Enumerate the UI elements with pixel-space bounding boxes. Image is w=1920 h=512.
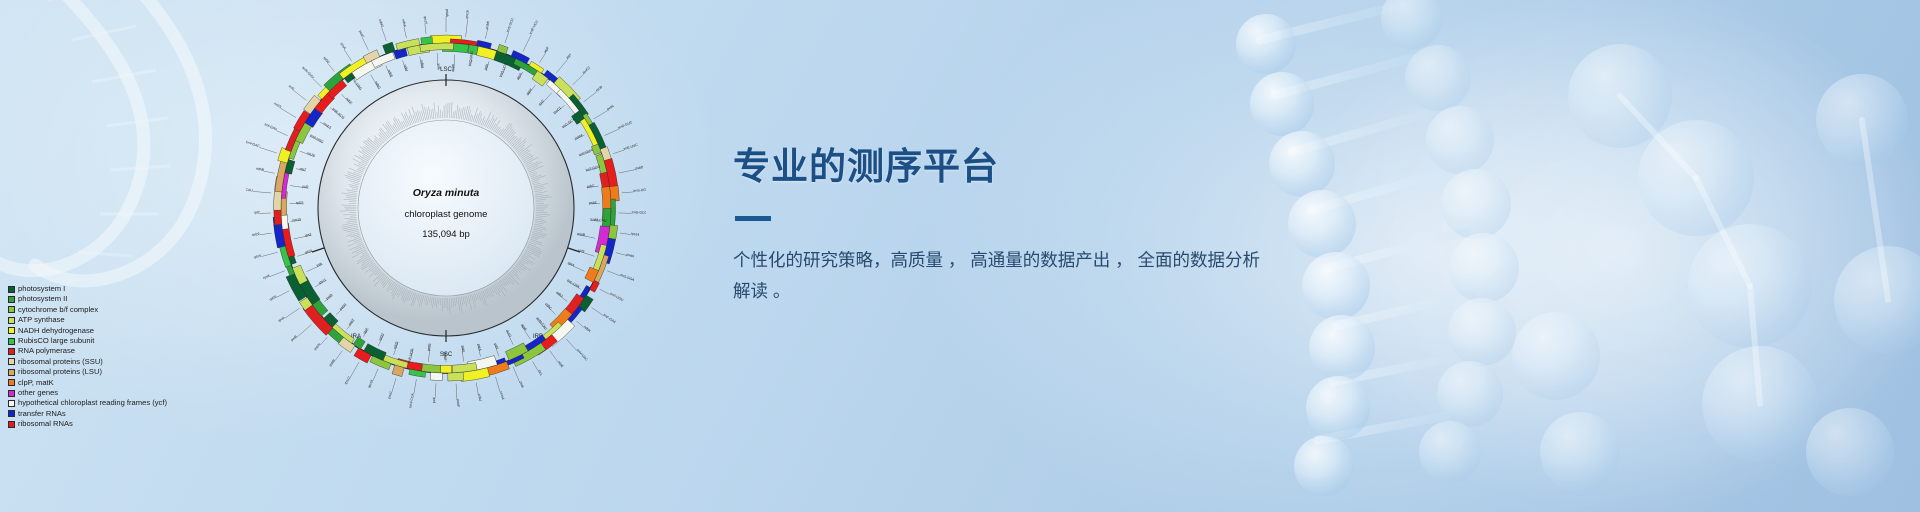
gene-leader-line xyxy=(328,64,334,72)
legend-item-label: cytochrome b/f complex xyxy=(18,305,98,315)
legend-color-swatch xyxy=(8,358,15,365)
gene-feature-box xyxy=(448,372,464,381)
gene-label: rrn16 xyxy=(307,151,316,158)
gene-leader-line xyxy=(539,53,545,63)
gene-leader-line xyxy=(259,147,277,153)
gene-label: psbL xyxy=(461,345,466,353)
gene-label: trnA-UGC xyxy=(309,133,325,144)
legend-item-label: NADH dehydrogenase xyxy=(18,326,94,336)
gene-label: trnL-UAG xyxy=(351,77,363,91)
legend-item-label: ribosomal proteins (LSU) xyxy=(18,367,102,377)
gene-label: petD xyxy=(325,293,334,301)
gene-label: ndhF xyxy=(345,97,353,105)
gene-label: trnL-UAA xyxy=(566,278,581,289)
gene-label: petN xyxy=(606,104,615,111)
gene-leader-line xyxy=(523,34,531,51)
gene-label: rrn23 xyxy=(273,101,282,109)
gene-leader-line xyxy=(556,59,568,73)
legend-item: ribosomal proteins (SSU) xyxy=(8,357,238,367)
gene-label: psbJ xyxy=(477,394,482,402)
gene-leader-line xyxy=(505,33,509,43)
gene-leader-line xyxy=(253,191,272,193)
legend-color-swatch xyxy=(8,348,15,355)
gene-label: atpA xyxy=(516,72,523,81)
gene-label: rpl20 xyxy=(378,333,385,342)
gene-label: psbF xyxy=(456,399,460,407)
gene-label: ccsA xyxy=(339,42,347,51)
legend-item: clpP, matK xyxy=(8,378,238,388)
gene-label: ycf4 xyxy=(493,343,499,350)
gene-label: trnS-UGA xyxy=(633,188,646,193)
gene-leader-line xyxy=(264,171,275,173)
gene-label: psbT xyxy=(348,318,356,326)
gene-leader-line xyxy=(456,384,457,400)
gene-label: ndhH xyxy=(419,60,424,69)
gene-label: ndhK xyxy=(583,325,592,334)
gene-leader-line xyxy=(321,337,328,344)
gene-label: psaC xyxy=(358,30,365,39)
legend-color-swatch xyxy=(8,400,15,407)
gene-label: psaA xyxy=(626,252,635,258)
gene-label: trnT-UGU xyxy=(609,292,624,303)
gene-leader-line xyxy=(592,308,603,316)
gene-label: clpP xyxy=(362,326,369,334)
gene-leader-line xyxy=(577,321,584,327)
gene-leader-line xyxy=(485,29,487,39)
gene-label: rps16 xyxy=(465,10,470,19)
gene-feature-box xyxy=(430,372,442,380)
gene-label: psbI xyxy=(484,63,490,70)
gene-leader-line xyxy=(476,383,478,395)
gene-label: psbD xyxy=(635,165,644,171)
gene-label: atpH xyxy=(525,87,533,96)
gene-label: matK xyxy=(451,63,455,72)
gene-leader-line xyxy=(594,110,608,119)
legend-item: hypothetical chloroplast reading frames … xyxy=(8,398,238,408)
gene-leader-line xyxy=(404,27,407,38)
gene-label: rpoB xyxy=(595,84,604,92)
legend-color-swatch xyxy=(8,317,15,324)
gene-label: accD xyxy=(505,329,512,338)
gene-leader-line xyxy=(373,369,378,381)
gene-label: trnI-GAU xyxy=(264,122,278,131)
gene-category-legend: photosystem Iphotosystem IIcytochrome b/… xyxy=(8,284,238,429)
gene-feature-box xyxy=(440,365,452,373)
gene-label: ndhB xyxy=(256,167,265,173)
gene-leader-line xyxy=(270,271,285,277)
gene-leader-line xyxy=(293,90,306,100)
gene-leader-line xyxy=(566,339,576,350)
gene-label: rps18 xyxy=(367,379,374,388)
gene-label: psbE xyxy=(443,351,447,359)
gene-label: rps14 xyxy=(631,232,640,237)
legend-color-swatch xyxy=(8,410,15,417)
gene-label: trnW-CCA xyxy=(408,392,415,408)
gene-label: psaI xyxy=(519,381,525,389)
legend-color-swatch xyxy=(8,390,15,397)
gene-label: psbM xyxy=(574,133,583,140)
gene-label: rpl14 xyxy=(304,249,313,255)
sequencing-platform-banner: LSC IRA SSC IRB psbAmatKrps16trnQ-UUGpsb… xyxy=(0,0,1920,512)
legend-color-swatch xyxy=(8,421,15,428)
gene-leader-line xyxy=(619,170,636,173)
gene-label: rps19 xyxy=(292,217,301,222)
legend-item-label: ribosomal proteins (SSU) xyxy=(18,357,103,367)
gene-leader-line xyxy=(466,19,468,37)
gene-label: rrn4.5 xyxy=(322,121,332,129)
legend-item-label: photosystem I xyxy=(18,284,65,294)
gene-label: petL xyxy=(432,396,436,403)
gene-label: rpl16 xyxy=(253,254,261,260)
gene-label: trnG-GCC xyxy=(632,210,646,214)
gene-label: cemA xyxy=(499,391,505,401)
gene-feature-box xyxy=(281,215,288,230)
gene-label: petG xyxy=(427,343,432,351)
gene-feature-box xyxy=(610,186,620,202)
gene-leader-line xyxy=(261,252,277,256)
gene-leader-line xyxy=(573,74,584,85)
legend-color-swatch xyxy=(8,296,15,303)
gene-feature-box xyxy=(394,48,408,59)
gene-label: trnP-UGG xyxy=(407,348,414,364)
gene-label: petB xyxy=(290,334,298,342)
gene-leader-line xyxy=(616,253,627,256)
legend-item-label: ribosomal RNAs xyxy=(18,419,73,429)
gene-label: ndhE xyxy=(387,69,394,79)
gene-feature-box xyxy=(383,42,396,54)
gene-label: ndhG xyxy=(378,19,385,28)
gene-label: ndhA xyxy=(401,19,407,28)
gene-label: rpl23 xyxy=(296,201,304,205)
legend-item-label: RNA polymerase xyxy=(18,346,75,356)
gene-leader-line xyxy=(435,383,436,396)
gene-leader-line xyxy=(362,38,368,50)
legend-color-swatch xyxy=(8,327,15,334)
gene-label: trnD-GUC xyxy=(618,120,634,130)
gene-label: atpE xyxy=(557,360,565,369)
gene-label: rpoC1 xyxy=(552,106,562,115)
gene-label: rps7 xyxy=(299,167,307,173)
gene-leader-line xyxy=(607,271,620,276)
gene-label: rps12 xyxy=(344,376,352,385)
legend-item: ribosomal proteins (LSU) xyxy=(8,367,238,377)
gene-label: psbK xyxy=(485,20,491,29)
gene-label: rps3 xyxy=(304,232,311,237)
gene-leader-line xyxy=(533,361,538,370)
gene-leader-line xyxy=(613,150,624,154)
gene-label: petA xyxy=(477,343,483,351)
gene-label: rps8 xyxy=(263,274,271,280)
gene-label: rpl33 xyxy=(393,341,399,350)
legend-color-swatch xyxy=(8,338,15,345)
gene-label: ndhC xyxy=(544,302,553,311)
legend-item-label: clpP, matK xyxy=(18,378,54,388)
gene-leader-line xyxy=(392,378,396,392)
gene-leader-line xyxy=(425,24,426,34)
gene-leader-line xyxy=(496,377,500,392)
gene-label: trnF-GAA xyxy=(602,313,617,325)
gene-label: rpoC2 xyxy=(582,65,591,74)
page-title: 专业的测序平台 xyxy=(733,136,1373,190)
gene-label: trnS-GGA xyxy=(620,273,636,282)
gene-label: psbC xyxy=(586,184,595,189)
gene-label: rbcL xyxy=(537,369,544,377)
gene-label: trnN-GUU xyxy=(301,66,315,80)
gene-leader-line xyxy=(276,131,287,136)
gene-label: trnE-UUC xyxy=(623,143,639,152)
gene-label: psbZ xyxy=(589,201,597,205)
chloroplast-genome-map: LSC IRA SSC IRB psbAmatKrps16trnQ-UUGpsb… xyxy=(246,8,646,408)
gene-label: infA xyxy=(316,261,324,267)
legend-item-label: other genes xyxy=(18,388,58,398)
gene-label: trnI-CAU xyxy=(246,187,253,192)
gene-label: trnC-GCA xyxy=(561,117,576,129)
legend-color-swatch xyxy=(8,379,15,386)
gene-label: rpl22 xyxy=(252,232,260,237)
gene-leader-line xyxy=(550,351,558,362)
legend-item: photosystem I xyxy=(8,284,238,294)
legend-item: cytochrome b/f complex xyxy=(8,305,238,315)
gene-label: rpl2 xyxy=(254,210,260,214)
banner-copy-block: 专业的测序平台 个性化的研究策略，高质量 ， 高通量的数据产出 ， 全面的数据分… xyxy=(733,136,1373,307)
gene-label: psaB xyxy=(577,232,586,238)
gene-label: rpl32 xyxy=(323,56,331,64)
legend-item: NADH dehydrogenase xyxy=(8,326,238,336)
legend-color-swatch xyxy=(8,369,15,376)
gene-leader-line xyxy=(344,50,351,62)
gene-leader-line xyxy=(335,351,342,361)
legend-item: ATP synthase xyxy=(8,315,238,325)
legend-item: transfer RNAs xyxy=(8,409,238,419)
genome-center-species: Oryza minuta xyxy=(413,187,480,199)
banner-description: 个性化的研究策略，高质量 ， 高通量的数据产出 ， 全面的数据分析解读 。 xyxy=(733,245,1263,307)
gene-label: trnM-CAU xyxy=(535,316,548,331)
gene-label: atpF xyxy=(543,46,550,54)
gene-label: trnfM-CAU xyxy=(590,217,607,222)
gene-label: atpI xyxy=(565,53,572,60)
gene-label: ycf1 xyxy=(437,63,441,70)
gene-leader-line xyxy=(414,379,417,394)
gene-leader-line xyxy=(260,233,272,235)
gene-leader-line xyxy=(584,92,597,102)
gene-label: psbB xyxy=(328,358,336,367)
gene-label: ycf2 xyxy=(302,184,309,189)
gene-label: trnV-GAC xyxy=(246,140,261,148)
gene-label: rpl36 xyxy=(269,295,278,302)
gene-leader-line xyxy=(277,291,290,298)
gene-leader-line xyxy=(280,108,296,117)
gene-leader-line xyxy=(285,308,300,318)
gene-leader-line xyxy=(350,362,359,377)
legend-item-label: RubisCO large subunit xyxy=(18,336,94,346)
legend-color-swatch xyxy=(8,286,15,293)
gene-label: trnG-UCC xyxy=(498,62,508,78)
legend-item: other genes xyxy=(8,388,238,398)
gene-label: trnR-ACG xyxy=(331,107,345,120)
gene-leader-line xyxy=(600,289,610,294)
gene-label: rpoA xyxy=(277,315,286,323)
gene-feature-box xyxy=(590,281,600,293)
gene-leader-line xyxy=(297,325,311,337)
gene-label: psbN xyxy=(313,342,322,351)
gene-label: psbA xyxy=(445,9,449,17)
gene-label: trnT-GGU xyxy=(585,164,601,172)
gene-leader-line xyxy=(313,79,322,87)
gene-label: rps11 xyxy=(318,278,327,286)
gene-label: trnY-GUA xyxy=(578,148,594,157)
legend-item: photosystem II xyxy=(8,294,238,304)
genome-center-subtitle: chloroplast genome xyxy=(405,209,488,220)
gene-label: rrn5 xyxy=(288,84,295,91)
gene-label: trnR-UCU xyxy=(529,19,539,35)
gene-leader-line xyxy=(622,192,634,193)
gene-label: rps2 xyxy=(538,99,545,107)
legend-item: RNA polymerase xyxy=(8,346,238,356)
legend-item-label: photosystem II xyxy=(18,294,67,304)
gene-label: ndhJ xyxy=(555,290,564,298)
gene-label: trnS-GCU xyxy=(506,17,515,33)
gene-leader-line xyxy=(382,27,387,41)
title-underline-rule xyxy=(735,216,771,221)
gene-label: atpB xyxy=(520,323,528,332)
gene-leader-line xyxy=(620,233,631,235)
gene-label: ycf3 xyxy=(578,248,585,254)
legend-item-label: hypothetical chloroplast reading frames … xyxy=(18,398,167,408)
gene-label: rps15 xyxy=(423,16,428,25)
legend-item-label: transfer RNAs xyxy=(18,409,66,419)
legend-item: RubisCO large subunit xyxy=(8,336,238,346)
gene-label: ndhI xyxy=(403,64,409,72)
legend-item-label: ATP synthase xyxy=(18,315,65,325)
gene-label: trnV-UAC xyxy=(576,348,589,362)
legend-color-swatch xyxy=(8,306,15,313)
legend-item: ribosomal RNAs xyxy=(8,419,238,429)
gene-label: ndhD xyxy=(374,80,382,90)
gene-leader-line xyxy=(513,367,520,382)
gene-label: psaJ xyxy=(387,391,393,399)
genome-center-size: 135,094 bp xyxy=(422,229,470,240)
gene-leader-line xyxy=(604,129,618,136)
gene-label: psbH xyxy=(339,302,348,311)
